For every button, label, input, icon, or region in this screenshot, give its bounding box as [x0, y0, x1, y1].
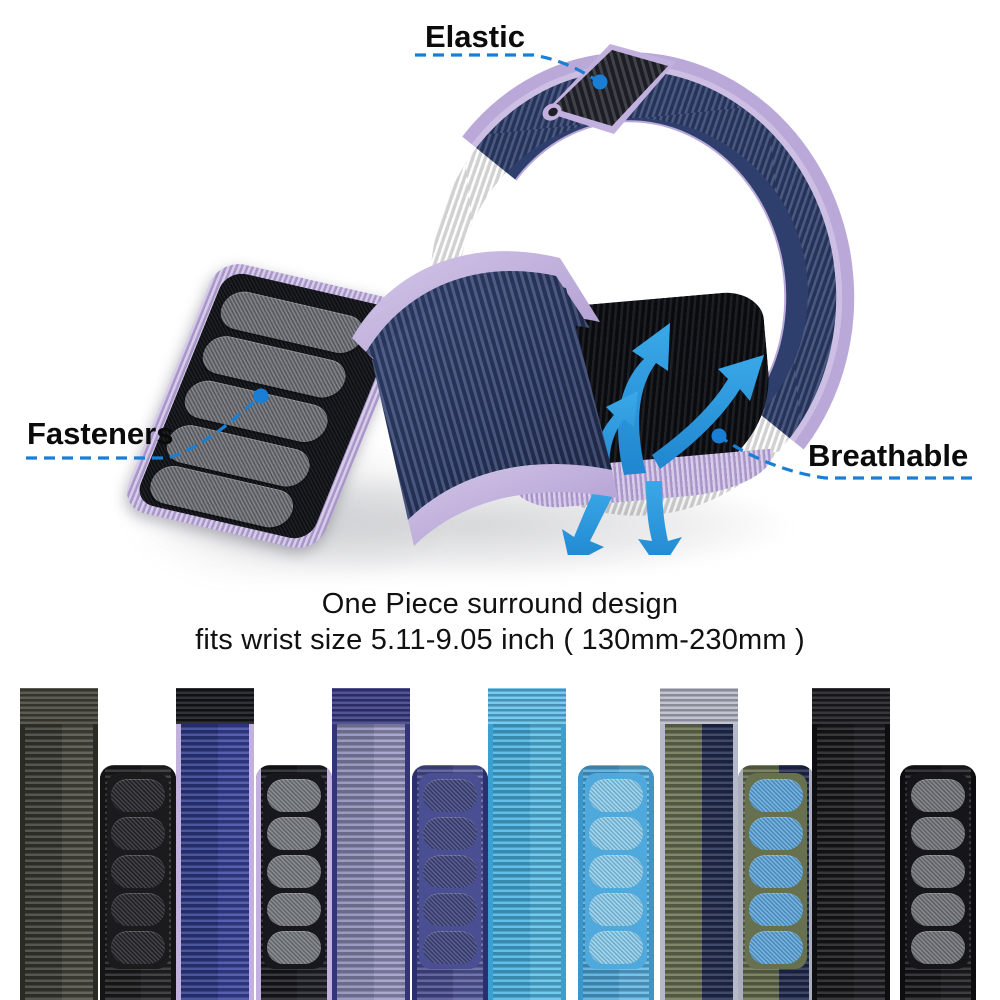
strip-fastener-pad: [267, 931, 321, 964]
strip-fastener-pad: [423, 779, 477, 812]
color-swatch-strip[interactable]: [100, 765, 176, 1000]
strip-edge-trim: [738, 765, 743, 1000]
color-swatch-strip[interactable]: [812, 688, 890, 1000]
strip-edge-trim: [176, 688, 181, 1000]
strip-fastener-pad: [267, 855, 321, 888]
strip-fastener-pad: [749, 817, 803, 850]
strip-fastener-pad: [911, 855, 965, 888]
callout-label-fasteners: Fasteners: [27, 418, 173, 449]
strip-fastener-pad: [589, 779, 643, 812]
strip-top-band: [332, 688, 410, 724]
color-variant-row: [0, 660, 1000, 1000]
color-swatch-strip[interactable]: [412, 765, 488, 1000]
strip-fastener-pad: [589, 817, 643, 850]
color-swatch-strip[interactable]: [738, 765, 814, 1000]
color-swatch-strip[interactable]: [488, 688, 566, 1000]
caption-line-1: One Piece surround design: [0, 586, 1000, 622]
strip-edge-trim: [660, 688, 665, 1000]
callout-elastic: Elastic: [425, 21, 525, 52]
strip-fastener-pad: [423, 931, 477, 964]
strip-top-band: [488, 688, 566, 724]
strip-fastener-pad: [589, 931, 643, 964]
color-swatch-strip[interactable]: [20, 688, 98, 1000]
strip-edge-trim: [649, 765, 654, 1000]
color-swatch-strip[interactable]: [660, 688, 738, 1000]
strip-edge-trim: [900, 765, 905, 1000]
product-infographic: Elastic Fasteners Breathable One Piece s…: [0, 0, 1000, 1000]
caption-block: One Piece surround design fits wrist siz…: [0, 586, 1000, 658]
color-swatch-strip[interactable]: [578, 765, 654, 1000]
callout-breathable: Breathable: [808, 440, 968, 471]
strip-fastener-pad: [911, 931, 965, 964]
strip-fastener-pad: [267, 817, 321, 850]
strip-edge-trim: [20, 688, 25, 1000]
caption-line-2: fits wrist size 5.11-9.05 inch ( 130mm-2…: [0, 622, 1000, 658]
strip-fastener-pad: [749, 893, 803, 926]
strip-fastener-pad: [749, 779, 803, 812]
strip-edge-trim: [812, 688, 817, 1000]
airflow-arrows: [560, 275, 790, 555]
strip-fastener-pad: [749, 855, 803, 888]
strip-edge-trim: [578, 765, 583, 1000]
strip-fastener-pad: [423, 893, 477, 926]
strip-edge-trim: [405, 688, 410, 1000]
strip-fastener-pad: [911, 817, 965, 850]
strip-fastener-pad: [423, 855, 477, 888]
strip-fastener-pad: [111, 855, 165, 888]
strip-fastener-pad: [267, 779, 321, 812]
strip-fastener-pad: [749, 931, 803, 964]
strip-top-band: [20, 688, 98, 724]
strip-edge-trim: [971, 765, 976, 1000]
strip-fastener-pad: [911, 779, 965, 812]
strip-edge-trim: [885, 688, 890, 1000]
nylon-loop: [0, 0, 1000, 660]
strip-top-band: [812, 688, 890, 724]
strip-edge-trim: [249, 688, 254, 1000]
strip-top-band: [660, 688, 738, 724]
callout-fasteners: Fasteners: [27, 418, 173, 449]
strip-edge-trim: [256, 765, 261, 1000]
strip-fastener-pad: [111, 817, 165, 850]
strip-fastener-pad: [267, 893, 321, 926]
airflow-arrow-down: [562, 487, 614, 555]
strip-fastener-pad: [589, 855, 643, 888]
strip-edge-trim: [561, 688, 566, 1000]
strip-fastener-pad: [111, 931, 165, 964]
airflow-arrow-down: [638, 481, 682, 555]
strip-edge-trim: [93, 688, 98, 1000]
strip-fastener-pad: [111, 779, 165, 812]
strip-edge-trim: [488, 688, 493, 1000]
strip-fastener-pad: [589, 893, 643, 926]
hero-product-photo: Elastic Fasteners Breathable One Piece s…: [0, 0, 1000, 660]
strip-fastener-pad: [111, 893, 165, 926]
strip-edge-trim: [412, 765, 417, 1000]
callout-label-breathable: Breathable: [808, 440, 968, 471]
strip-edge-trim: [332, 688, 337, 1000]
strip-edge-trim: [100, 765, 105, 1000]
color-swatch-strip[interactable]: [176, 688, 254, 1000]
color-swatch-strip[interactable]: [256, 765, 332, 1000]
color-swatch-strip[interactable]: [332, 688, 410, 1000]
callout-label-elastic: Elastic: [425, 21, 525, 52]
airflow-arrow-up: [652, 355, 764, 469]
strip-top-band: [176, 688, 254, 724]
strip-fastener-pad: [911, 893, 965, 926]
strip-fastener-pad: [423, 817, 477, 850]
color-swatch-strip[interactable]: [900, 765, 976, 1000]
